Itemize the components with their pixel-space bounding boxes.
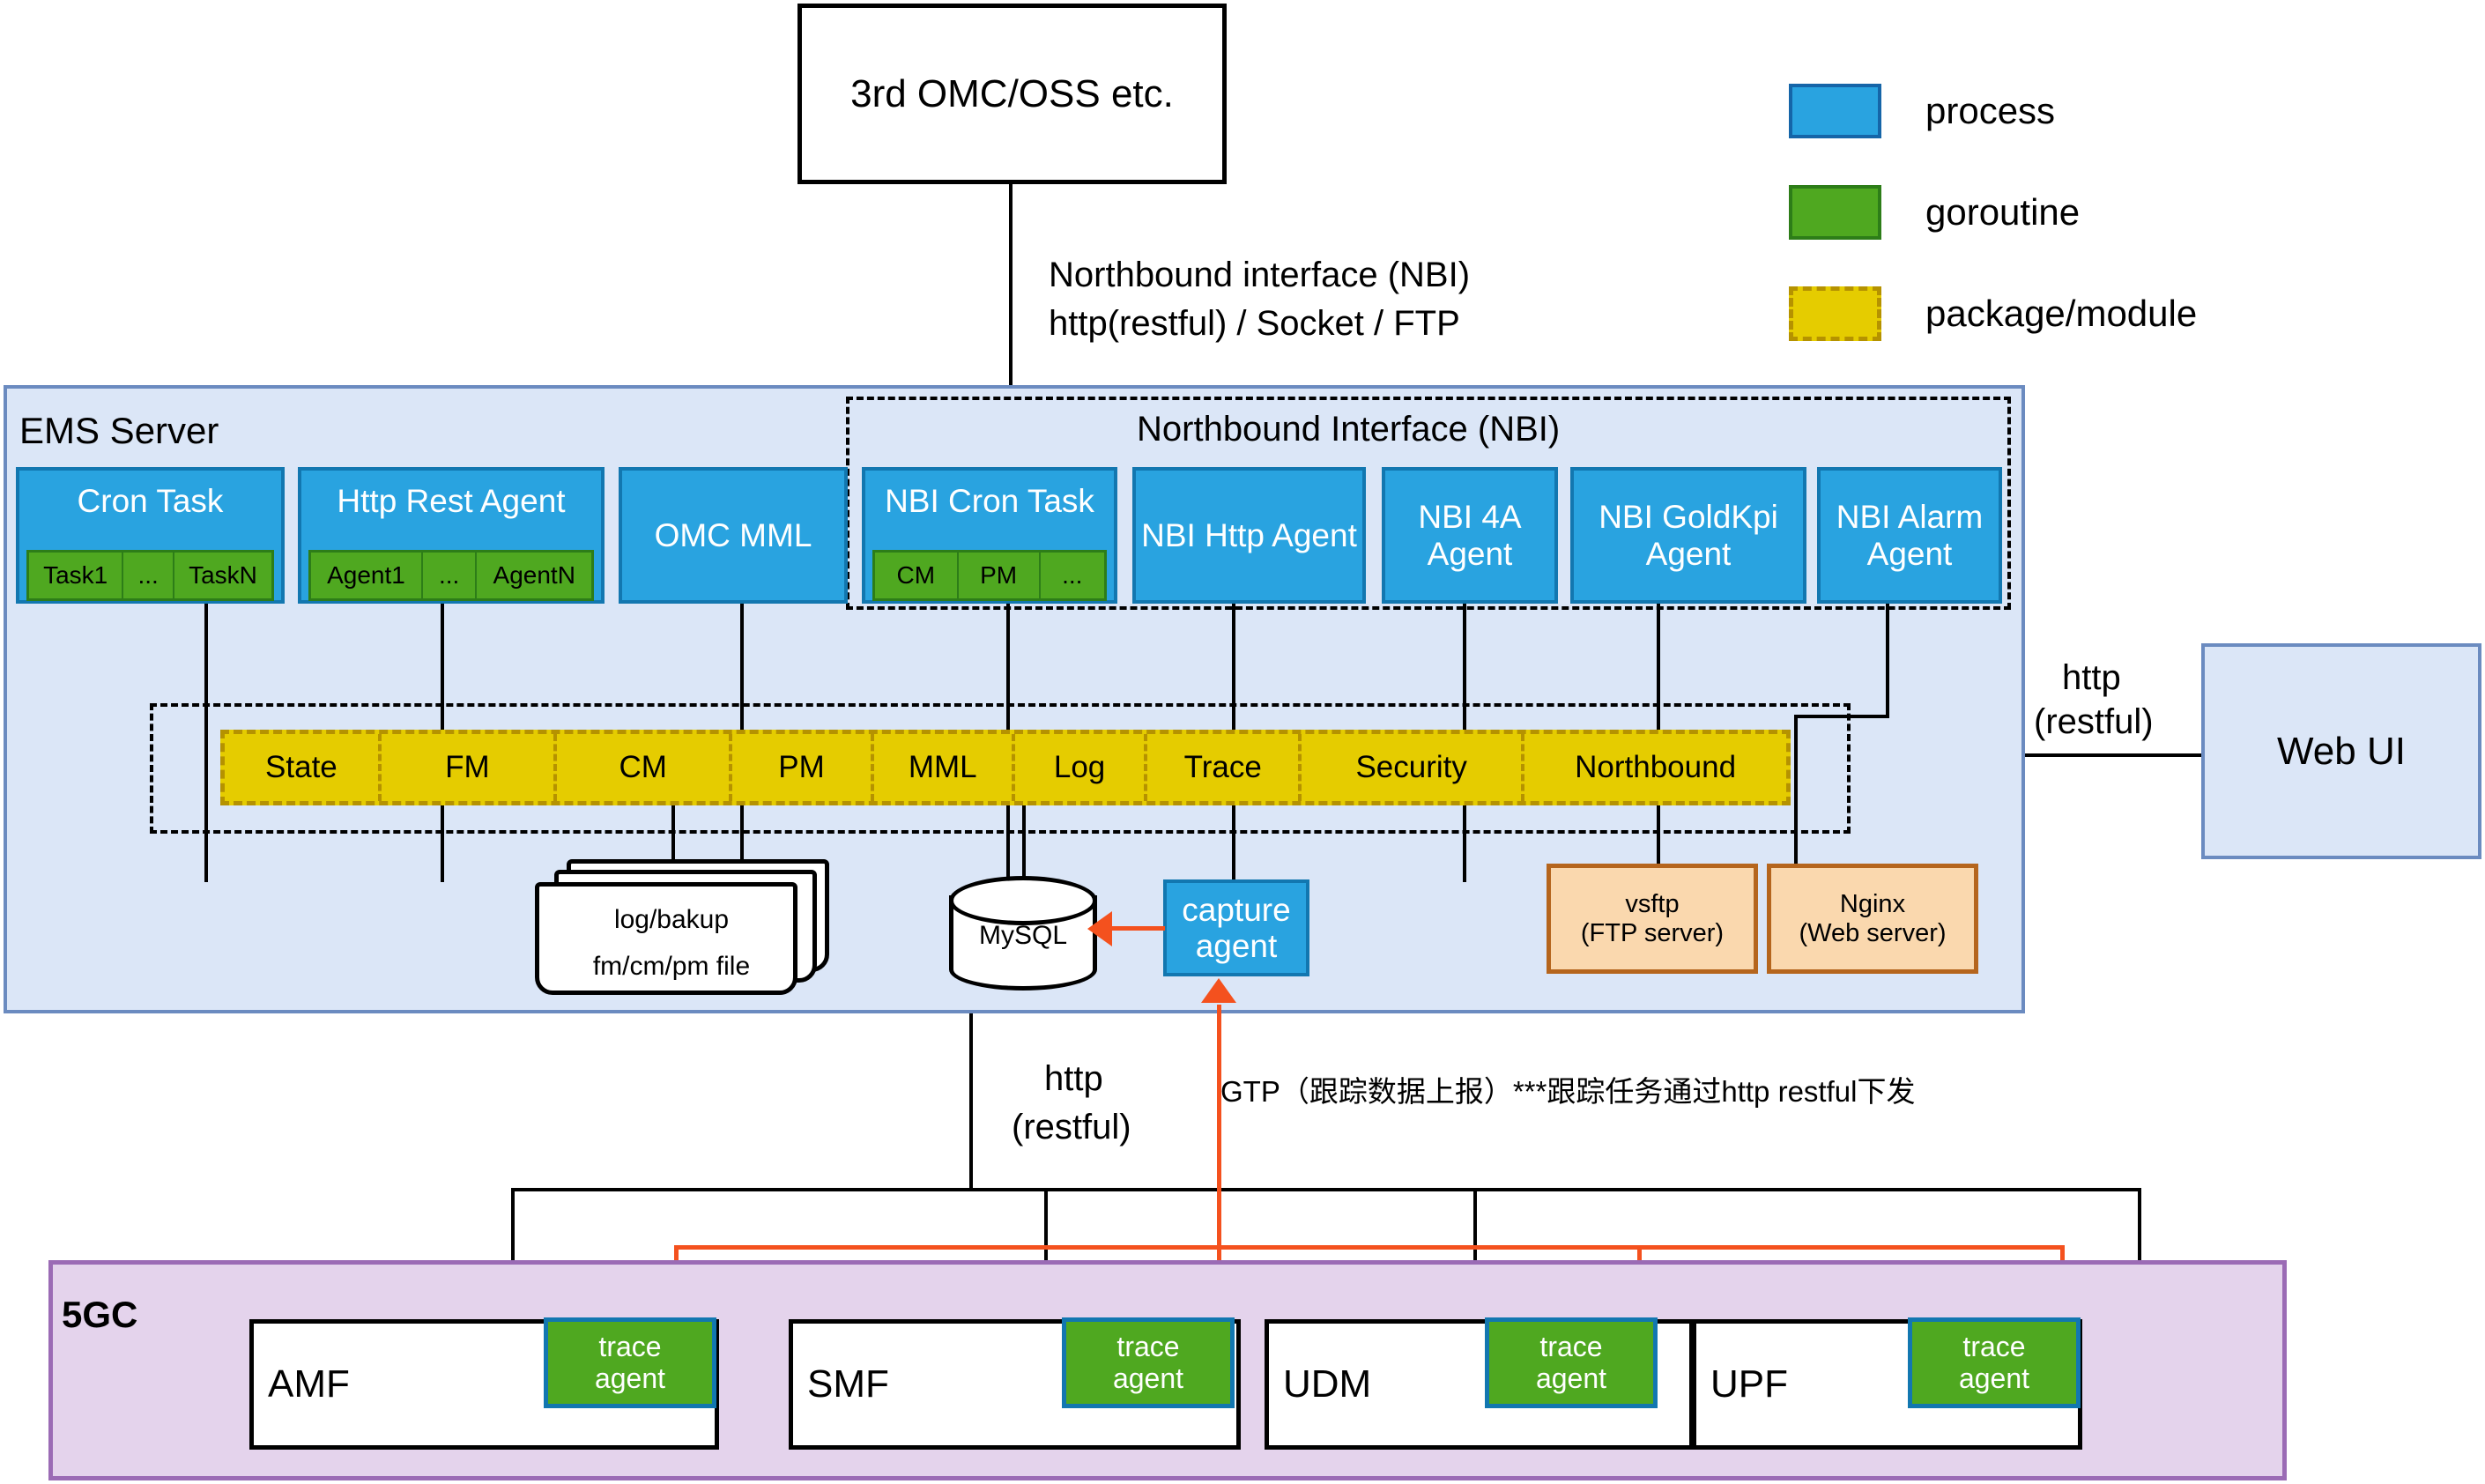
server-box-vsftp[interactable]: vsftp (FTP server) [1547, 864, 1758, 974]
vsftp-label-line2: (FTP server) [1581, 919, 1724, 947]
legend: process goroutine package/module [1789, 84, 2406, 330]
nbi-group-title: Northbound Interface (NBI) [1137, 410, 1560, 449]
module-bar: State FM CM PM MML Log Trace Security No… [220, 730, 1791, 805]
connector-log-to-filestore [671, 805, 675, 864]
trace-agent-label-line2: agent [1113, 1363, 1183, 1395]
file-store-stack: log/bakup fm/cm/pm file [535, 859, 826, 991]
gtp-bus-horizontal [674, 1245, 2065, 1250]
file-store-label-line1: log/bakup [526, 905, 817, 935]
nf-label-udm: UDM [1283, 1362, 1371, 1406]
ems-server-title: EMS Server [19, 410, 219, 452]
trace-agent-label-line1: trace [1116, 1332, 1179, 1363]
legend-label-module: package/module [1925, 286, 2197, 341]
module-fm[interactable]: FM [382, 734, 557, 801]
process-box-nbi-cron-task[interactable]: NBI Cron Task CM PM ... [862, 467, 1117, 604]
capture-agent-label-line1: capture [1182, 892, 1290, 928]
oss-to-nbi-connector [1009, 184, 1013, 396]
webui-label: Web UI [2277, 730, 2406, 773]
capture-to-mysql-line [1112, 926, 1165, 931]
trace-agent-upf[interactable]: trace agent [1908, 1317, 2081, 1408]
external-oss-label: 3rd OMC/OSS etc. [850, 72, 1174, 115]
legend-swatch-goroutine [1789, 185, 1881, 240]
external-oss-box: 3rd OMC/OSS etc. [797, 4, 1227, 184]
module-state[interactable]: State [225, 734, 382, 801]
trace-agent-label-line2: agent [595, 1363, 665, 1395]
trace-agent-udm[interactable]: trace agent [1485, 1317, 1658, 1408]
process-label-cron-task: Cron Task [19, 483, 281, 519]
goroutine-cell: PM [959, 553, 1041, 598]
cylinder-top [949, 876, 1097, 925]
legend-label-process: process [1925, 84, 2055, 138]
process-label-nbi-alarm-agent: NBI Alarm Agent [1821, 499, 1999, 572]
capture-to-mysql-arrowhead [1087, 911, 1112, 946]
goroutine-cell: Task1 [29, 553, 123, 598]
goroutine-cell: CM [875, 553, 959, 598]
module-security[interactable]: Security [1302, 734, 1524, 801]
mysql-label: MySQL [949, 921, 1097, 951]
capture-agent-box[interactable]: capture agent [1163, 879, 1309, 976]
module-log[interactable]: Log [1015, 734, 1147, 801]
file-store-label-line2: fm/cm/pm file [526, 952, 817, 982]
legend-label-goroutine: goroutine [1925, 185, 2080, 240]
trace-agent-label-line1: trace [1962, 1332, 2025, 1363]
process-box-http-rest-agent[interactable]: Http Rest Agent Agent1 ... AgentN [298, 467, 605, 604]
module-northbound[interactable]: Northbound [1524, 734, 1786, 801]
trace-agent-label-line2: agent [1959, 1363, 2029, 1395]
http-restful-label-line2: (restful) [1012, 1106, 1131, 1148]
mysql-database: MySQL [949, 876, 1097, 991]
gtp-note-label: GTP（跟踪数据上报）***跟踪任务通过http restful下发 [1220, 1068, 1915, 1110]
webui-link-label-line1: http [2062, 657, 2121, 699]
module-mml[interactable]: MML [874, 734, 1015, 801]
goroutine-strip-nbi-cron-task: CM PM ... [872, 550, 1107, 601]
process-label-omc-mml: OMC MML [622, 517, 844, 553]
module-trace[interactable]: Trace [1147, 734, 1302, 801]
process-box-nbi-http-agent[interactable]: NBI Http Agent [1132, 467, 1366, 604]
process-box-cron-task[interactable]: Cron Task Task1 ... TaskN [16, 467, 285, 604]
goroutine-cell: ... [423, 553, 478, 598]
connector-nbi-alarm-agent-upper [1886, 604, 1889, 718]
goroutine-cell: TaskN [174, 553, 271, 598]
nf-label-amf: AMF [268, 1362, 350, 1406]
process-box-omc-mml[interactable]: OMC MML [619, 467, 848, 604]
trace-agent-smf[interactable]: trace agent [1062, 1317, 1235, 1408]
nf-label-smf: SMF [807, 1362, 889, 1406]
process-box-nbi-4a-agent[interactable]: NBI 4A Agent [1382, 467, 1558, 604]
goroutine-strip-http-rest-agent: Agent1 ... AgentN [308, 550, 594, 601]
core-network-title: 5GC [62, 1294, 137, 1336]
server-box-nginx[interactable]: Nginx (Web server) [1767, 864, 1978, 974]
process-box-nbi-goldkpi-agent[interactable]: NBI GoldKpi Agent [1570, 467, 1806, 604]
capture-agent-label-line2: agent [1196, 928, 1278, 964]
nbi-link-label-line2: http(restful) / Socket / FTP [1049, 302, 1460, 345]
nginx-label-line1: Nginx [1840, 890, 1905, 918]
nginx-label-line2: (Web server) [1799, 919, 1946, 947]
trace-agent-amf[interactable]: trace agent [544, 1317, 716, 1408]
goroutine-strip-cron-task: Task1 ... TaskN [26, 550, 274, 601]
nf-label-upf: UPF [1710, 1362, 1788, 1406]
trace-agent-label-line2: agent [1536, 1363, 1606, 1395]
goroutine-cell: ... [1041, 553, 1104, 598]
module-cm[interactable]: CM [557, 734, 732, 801]
http-restful-label-line1: http [1044, 1057, 1103, 1100]
legend-swatch-process [1789, 84, 1881, 138]
process-label-nbi-goldkpi-agent: NBI GoldKpi Agent [1574, 499, 1803, 572]
process-box-nbi-alarm-agent[interactable]: NBI Alarm Agent [1817, 467, 2002, 604]
vsftp-label-line1: vsftp [1625, 890, 1679, 918]
goroutine-cell: AgentN [477, 553, 591, 598]
ems-to-webui-connector [2025, 753, 2201, 757]
connector-log-to-mysql [1022, 805, 1026, 878]
core-bus-horizontal [511, 1188, 2141, 1191]
trace-agent-label-line1: trace [598, 1332, 661, 1363]
ems-to-bus-connector [969, 1013, 973, 1190]
process-label-nbi-http-agent: NBI Http Agent [1136, 517, 1362, 553]
nbi-link-label-line1: Northbound interface (NBI) [1049, 254, 1470, 296]
trace-agent-label-line1: trace [1539, 1332, 1602, 1363]
gtp-arrowhead-to-capture [1201, 978, 1236, 1003]
process-label-nbi-4a-agent: NBI 4A Agent [1385, 499, 1554, 572]
webui-box[interactable]: Web UI [2201, 643, 2481, 859]
legend-swatch-module [1789, 286, 1881, 341]
goroutine-cell: ... [123, 553, 174, 598]
module-pm[interactable]: PM [732, 734, 873, 801]
goroutine-cell: Agent1 [311, 553, 423, 598]
process-label-nbi-cron-task: NBI Cron Task [865, 483, 1114, 519]
webui-link-label-line2: (restful) [2034, 701, 2154, 743]
process-label-http-rest-agent: Http Rest Agent [301, 483, 601, 519]
gtp-riser-to-capture [1217, 1005, 1221, 1247]
